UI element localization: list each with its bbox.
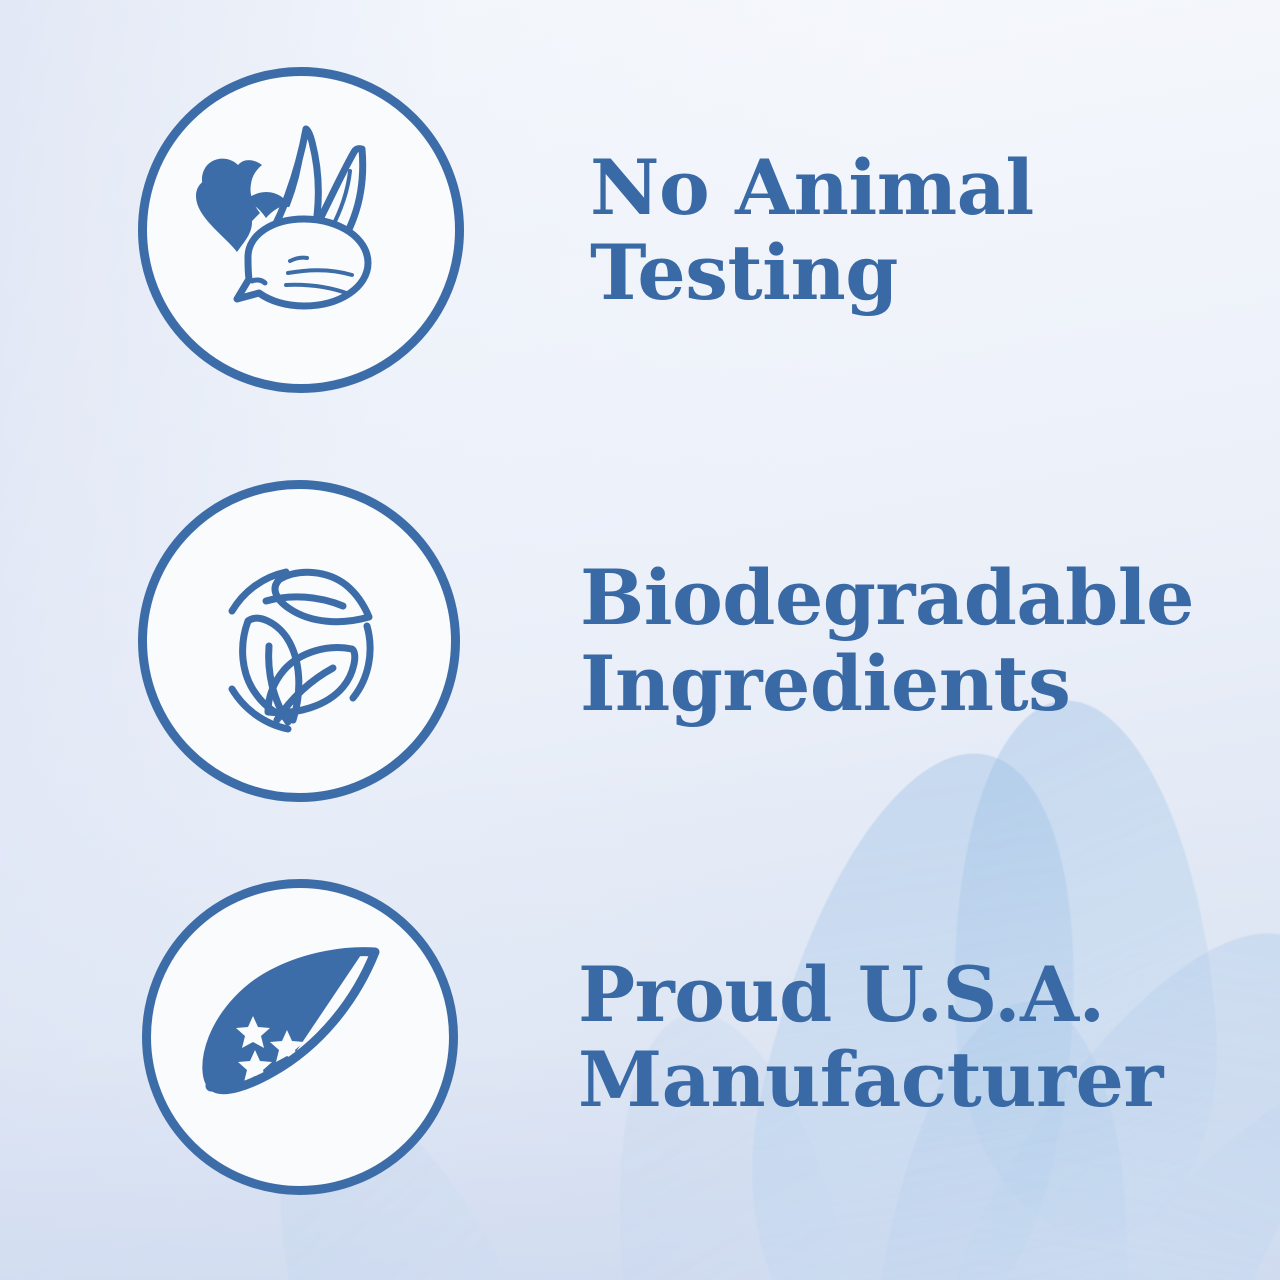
- feature-row-biodegradable-ingredients: Biodegradable Ingredients: [0, 468, 1280, 813]
- feature-title-proud-usa-manufacturer: Proud U.S.A. Manufacturer: [578, 952, 1163, 1122]
- feature-row-proud-usa-manufacturer: Proud U.S.A. Manufacturer: [0, 872, 1280, 1202]
- badge-circle-biodegradable-ingredients: [138, 480, 460, 802]
- feature-list: No Animal Testing: [0, 0, 1280, 1280]
- badge-feature-panel: No Animal Testing: [0, 0, 1280, 1280]
- usa-flag-leaf-icon: [193, 930, 408, 1145]
- three-leaves-recycle-icon: [192, 533, 407, 748]
- feature-title-no-animal-testing: No Animal Testing: [590, 145, 1034, 315]
- badge-circle-proud-usa-manufacturer: [142, 879, 458, 1195]
- feature-title-biodegradable-ingredients: Biodegradable Ingredients: [580, 555, 1194, 725]
- feature-row-no-animal-testing: No Animal Testing: [0, 55, 1280, 405]
- bunny-heart-icon: [176, 105, 426, 355]
- badge-circle-no-animal-testing: [138, 67, 464, 393]
